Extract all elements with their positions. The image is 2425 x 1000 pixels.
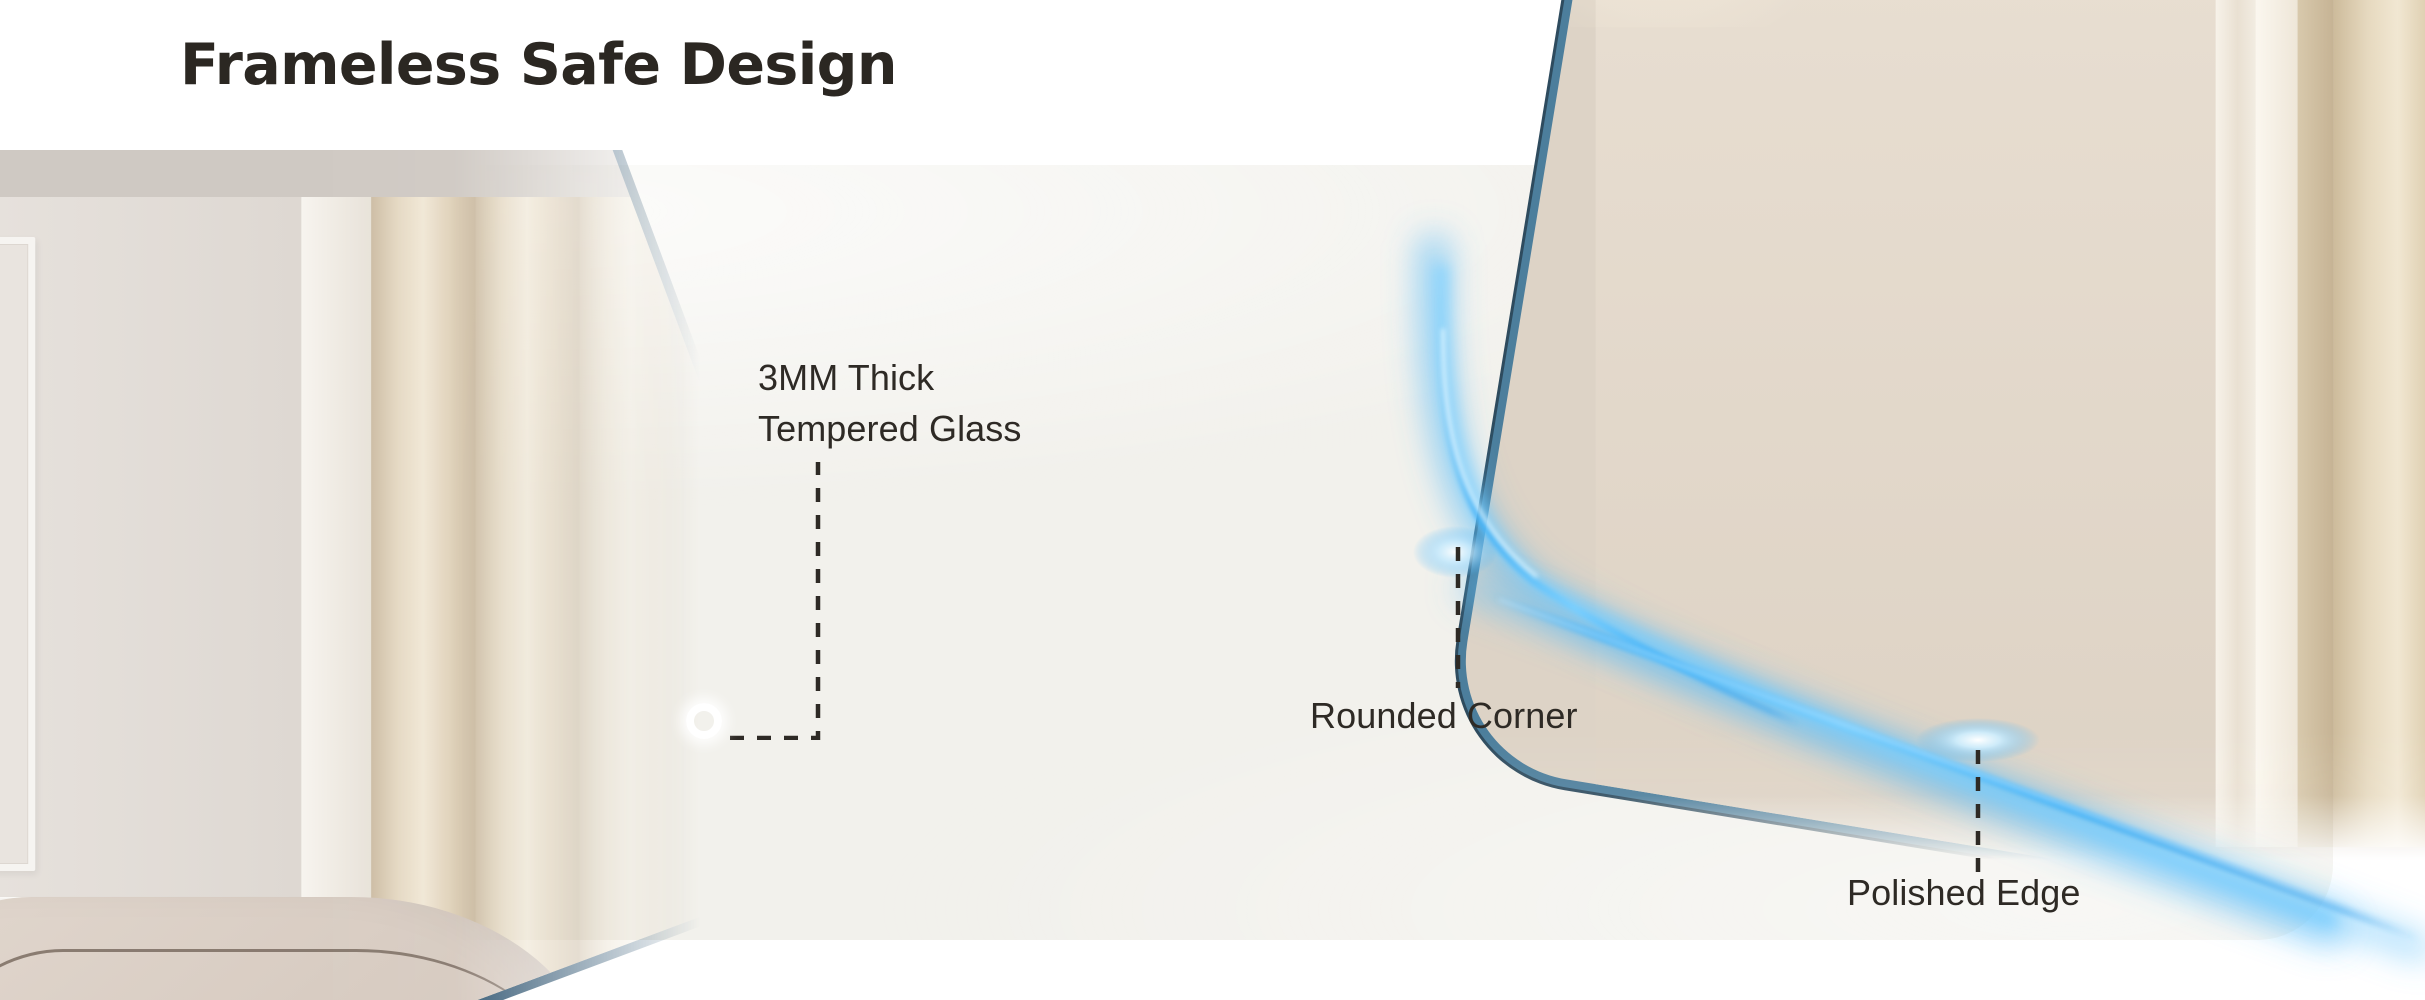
product-feature-banner: Frameless Safe Design (0, 0, 2425, 1000)
callout-label-tempered-glass-line2: Tempered Glass (758, 408, 1022, 449)
left-mirror-pane (0, 150, 700, 1000)
page-title: Frameless Safe Design (180, 32, 897, 98)
reflected-warm-wall (1596, 0, 2256, 847)
callout-label-rounded-corner: Rounded Corner (1310, 695, 1578, 737)
left-mirror-photo (0, 150, 700, 1000)
right-mirror-photo (1430, 0, 2425, 860)
left-mirror-reflection (0, 197, 700, 1000)
reflected-sheer-curtain (2256, 0, 2298, 847)
callout-label-tempered-glass-line1: 3MM Thick (758, 357, 934, 398)
reflected-wall-moulding-panel (0, 237, 35, 871)
reflected-curtain-shadow-fold (2298, 0, 2334, 847)
right-mirror-pane (1448, 0, 2425, 860)
right-mirror-reflection (1596, 0, 2425, 847)
reflected-window-casing (2216, 0, 2260, 847)
reflected-curtain-panel (2334, 0, 2425, 847)
callout-marker-tempered-glass[interactable] (686, 703, 722, 739)
callout-label-tempered-glass: 3MM ThickTempered Glass (758, 352, 1022, 454)
reflected-armchair (0, 837, 700, 1000)
callout-label-polished-edge: Polished Edge (1847, 872, 2080, 914)
